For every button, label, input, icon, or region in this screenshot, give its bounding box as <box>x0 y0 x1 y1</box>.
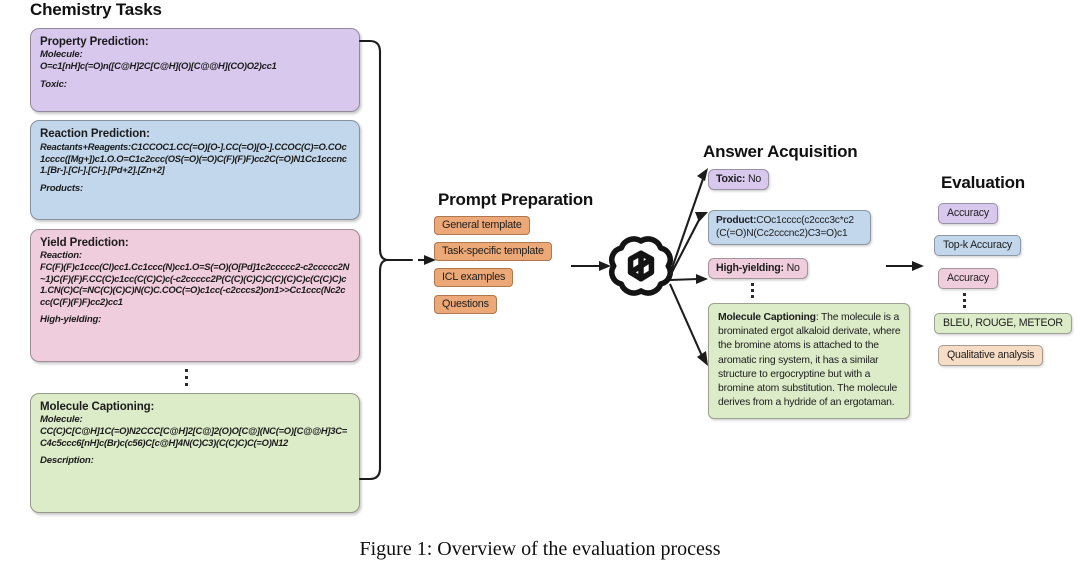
answer-value: No <box>745 173 761 185</box>
answer-label: High-yielding: <box>716 262 784 274</box>
answer-card-toxic: Toxic: No <box>708 169 769 190</box>
task-input-value: FC(F)(F)c1ccc(Cl)cc1.Cc1ccc(N)cc1.O=S(=O… <box>40 261 350 307</box>
answers-vertical-ellipsis-icon <box>750 283 754 298</box>
figure-caption: Figure 1: Overview of the evaluation pro… <box>0 538 1080 561</box>
task-input-label: Reaction: <box>40 250 350 261</box>
answers-to-evaluation-arrow <box>886 258 932 274</box>
answer-label: Molecule Captioning <box>718 312 816 323</box>
task-answer-label: Products: <box>40 183 350 194</box>
task-card-reaction-prediction: Reaction Prediction: Reactants+Reagents:… <box>30 120 360 220</box>
answer-card-molecule-captioning: Molecule Captioning: The molecule is a b… <box>708 303 910 419</box>
task-input-value: CC(C)C[C@H]1C(=O)N2CCC[C@H]2[C@]2(O)O[C@… <box>40 425 350 448</box>
evaluation-chip-accuracy[interactable]: Accuracy <box>938 203 998 224</box>
figure-overview-evaluation-process: Chemistry Tasks Property Prediction: Mol… <box>0 0 1080 573</box>
task-answer-label: Description: <box>40 455 350 466</box>
evaluation-chip-qualitative-analysis[interactable]: Qualitative analysis <box>938 345 1043 366</box>
answer-card-high-yielding: High-yielding: No <box>708 258 808 279</box>
answer-value: : The molecule is a brominated ergot alk… <box>718 312 900 408</box>
evaluation-chip-accuracy-yield[interactable]: Accuracy <box>938 268 998 289</box>
openai-logo <box>612 235 670 297</box>
task-answer-label: High-yielding: <box>40 314 350 325</box>
task-input-value: O=c1[nH]c(=O)n([C@H]2C[C@H](O)[C@@H](CO)… <box>40 60 350 72</box>
evaluation-chip-bleu-rouge-meteor[interactable]: BLEU, ROUGE, METEOR <box>934 313 1072 334</box>
task-card-yield-prediction: Yield Prediction: Reaction: FC(F)(F)c1cc… <box>30 229 360 362</box>
chemistry-tasks-heading: Chemistry Tasks <box>30 0 162 20</box>
task-card-molecule-captioning: Molecule Captioning: Molecule: CC(C)C[C@… <box>30 393 360 513</box>
task-title: Yield Prediction: <box>40 237 350 249</box>
tasks-vertical-ellipsis-icon <box>184 369 188 386</box>
task-card-property-prediction: Property Prediction: Molecule: O=c1[nH]c… <box>30 28 360 112</box>
task-title: Property Prediction: <box>40 36 350 48</box>
task-input-line: Reactants+Reagents:C1CCOC1.CC(=O)[O-].CC… <box>40 141 350 176</box>
task-answer-label: Toxic: <box>40 79 350 90</box>
prompt-chip-general-template[interactable]: General template <box>434 216 530 235</box>
answer-value: No <box>784 262 800 274</box>
prompt-chip-questions[interactable]: Questions <box>434 295 497 314</box>
task-input-label: Reactants+Reagents: <box>40 141 131 152</box>
answer-card-product: Product:COc1cccc(c2ccc3c*c2(C(=O)N(Cc2cc… <box>708 210 871 245</box>
tasks-to-prompt-brace-connector <box>358 36 438 484</box>
task-input-label: Molecule: <box>40 49 350 60</box>
evaluation-heading: Evaluation <box>941 173 1025 193</box>
prompt-chip-icl-examples[interactable]: ICL examples <box>434 268 513 287</box>
task-title: Molecule Captioning: <box>40 401 350 413</box>
answer-label: Product: <box>716 215 756 226</box>
task-title: Reaction Prediction: <box>40 128 350 140</box>
evaluation-chip-top-k-accuracy[interactable]: Top-k Accuracy <box>934 235 1021 256</box>
prompt-preparation-heading: Prompt Preparation <box>438 190 593 210</box>
answer-label: Toxic: <box>716 173 745 185</box>
answer-acquisition-heading: Answer Acquisition <box>703 142 857 162</box>
prompt-chip-task-specific-template[interactable]: Task-specific template <box>434 242 552 261</box>
evaluation-vertical-ellipsis-icon <box>962 293 966 308</box>
task-input-label: Molecule: <box>40 414 350 425</box>
